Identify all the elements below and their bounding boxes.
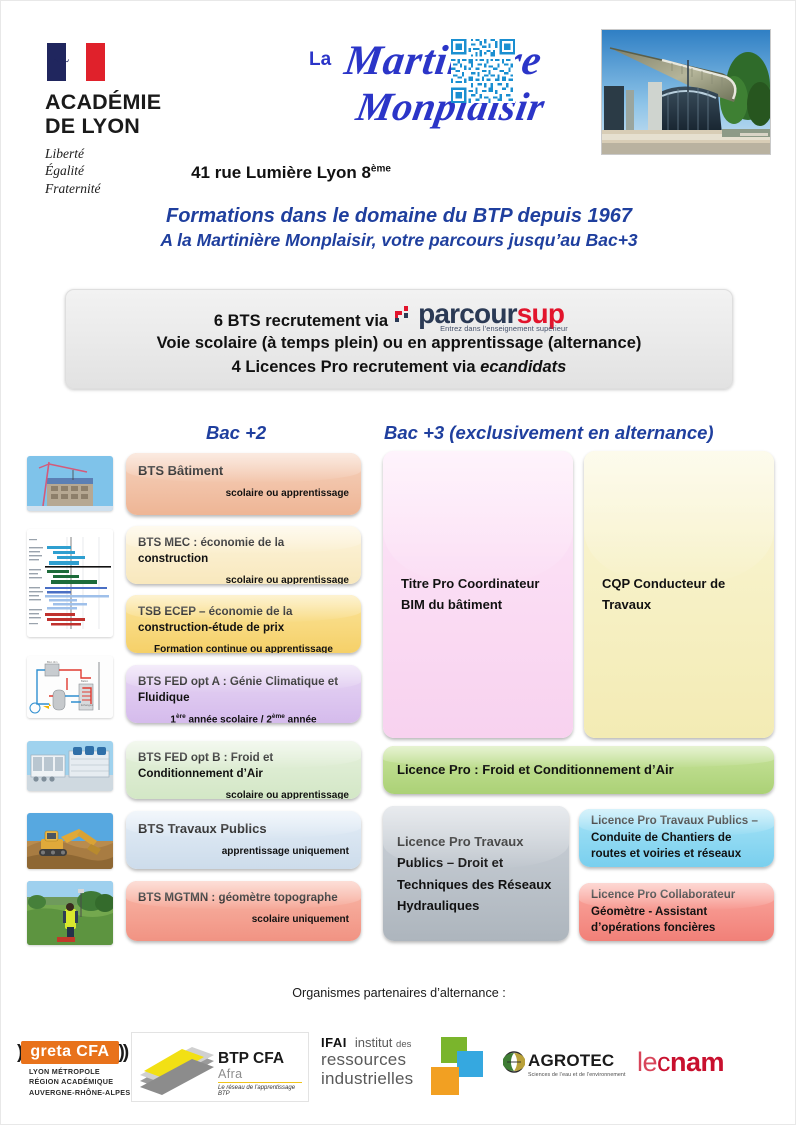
greta-cfa-logo: ) greta CFA )) LYON MÉTROPOLE RÉGION ACA… [17,1041,130,1098]
cnam-le: le [637,1047,657,1077]
ifai-squares-icon [431,1037,487,1100]
greta-subtitle: LYON MÉTROPOLE RÉGION ACADÉMIQUE AUVERGN… [29,1067,130,1098]
ifai-word-des: des [396,1039,411,1050]
agrotec-tagline: Sciences de l’eau et de l’environnement [528,1072,626,1078]
recruitment-line-2: Voie scolaire (à temps plein) ou en appr… [66,334,732,353]
card-title: Licence Pro Travaux Publics – Conduite d… [591,813,762,863]
qr-code-icon[interactable] [451,39,515,103]
address-text: 41 rue Lumière Lyon 8 [191,163,371,182]
header: ~~ ACADÉMIE DE LYON Liberté Égalité Frat… [1,1,796,196]
card-title: BTS Bâtiment [138,462,349,480]
academy-name-line1: ACADÉMIE [45,90,220,114]
partner-logos-row: ) greta CFA )) LYON MÉTROPOLE RÉGION ACA… [1,1029,796,1109]
marianne-profile-icon: ~~ [53,54,83,71]
page-title: Formations dans le domaine du BTP depuis… [1,204,796,252]
academy-name: ACADÉMIE DE LYON [45,90,220,138]
page-title-line2: A la Martinière Monplaisir, votre parcou… [1,229,796,252]
excavator-photo [27,813,113,869]
address-ordinal-suffix: ème [371,163,391,174]
cnam-logo: lecnam [637,1047,724,1078]
logo-la-text: La [309,49,331,71]
card-title: Licence Pro : Froid et Conditionnement d… [397,761,674,779]
card-title: TSB ECEP – économie de la construction-é… [138,604,349,636]
french-flag-icon: ~~ [47,43,105,81]
greta-right-bracket-icon: )) [119,1042,128,1064]
btp-cfa-tagline: Le réseau de l’apprentissage BTP [218,1085,308,1097]
card-title: BTS Travaux Publics [138,820,349,838]
svg-text:Bloc clim: Bloc clim [47,660,57,664]
card-bts-mec[interactable]: BTS MEC : économie de la construction sc… [126,526,361,584]
partners-label: Organismes partenaires d’alternance : [1,986,796,1000]
btp-cfa-region: Afra [218,1067,243,1081]
academy-name-line2: DE LYON [45,114,220,138]
recruitment-licence-text: 4 Licences Pro recrutement via [232,358,481,376]
card-title: BTS MGTMN : géomètre topographe [138,890,349,906]
greta-sub-line3: AUVERGNE-RHÔNE-ALPES [29,1088,130,1098]
card-bts-batiment[interactable]: BTS Bâtiment scolaire ou apprentissage [126,453,361,515]
parcoursup-tagline: Entrez dans l’enseignement supérieur [440,324,568,333]
card-bts-fed-opt-a[interactable]: BTS FED opt A : Génie Climatique et Flui… [126,665,361,723]
recruitment-panel: 6 BTS recrutement via parcoursup Entrez … [65,289,733,389]
ecandidats-text: ecandidats [480,358,566,376]
parcoursup-mark-icon [394,305,416,327]
svg-text:Echangeur: Echangeur [81,703,94,707]
recruitment-line-3: 4 Licences Pro recrutement via ecandidat… [66,358,732,377]
ifai-acronym: IFAI [321,1035,347,1050]
parcoursup-logo[interactable]: parcoursup Entrez dans l’enseignement su… [394,302,584,336]
address-line: 41 rue Lumière Lyon 8ème [1,163,581,183]
svg-text:Ballon: Ballon [81,679,89,683]
card-subtitle: 1ère année scolaire / 2ème année apprent… [138,713,349,723]
card-tsb-ecep[interactable]: TSB ECEP – économie de la construction-é… [126,595,361,653]
card-subtitle: apprentissage uniquement [138,845,349,858]
greta-sub-line1: LYON MÉTROPOLE [29,1067,130,1077]
campus-building-photo [601,29,771,155]
agrotec-globe-icon [503,1051,525,1078]
chiller-units-photo [27,741,113,791]
column-header-bac2: Bac +2 [206,422,266,444]
card-title: BTS MEC : économie de la construction [138,535,349,567]
poster-page: ~~ ACADÉMIE DE LYON Liberté Égalité Frat… [0,0,796,1125]
card-licence-pro-tp-droit[interactable]: Licence Pro Travaux Publics – Droit et T… [383,806,569,941]
card-title: BTS FED opt B : Froid et Conditionnement… [138,750,349,782]
card-subtitle: scolaire ou apprentissage [138,574,349,584]
ifai-logo: IFAI institut des ressources industriell… [321,1035,413,1088]
card-subtitle: scolaire ou apprentissage [138,487,349,500]
ifai-word-industrielles: industrielles [321,1069,413,1088]
card-licence-pro-geometre[interactable]: Licence Pro Collaborateur Géomètre - Ass… [579,883,774,941]
btp-cfa-sheets-icon [134,1037,220,1099]
cnam-c: c [657,1047,670,1077]
agrotec-name: AGROTEC [528,1051,614,1070]
motto-liberte: Liberté [45,145,220,162]
greta-pill-text: greta CFA [21,1041,118,1064]
card-subtitle: scolaire ou apprentissage [138,789,349,799]
btp-cfa-logo: BTP CFA Afra Le réseau de l’apprentissag… [131,1032,309,1102]
card-cqp-conducteur-travaux[interactable]: CQP Conducteur de Travaux [584,451,774,738]
card-title: BTS FED opt A : Génie Climatique et Flui… [138,674,349,706]
hvac-diagram-photo: Bloc climBallonEchangeur [27,656,113,718]
sub-sup-2: ème [272,713,285,720]
construction-crane-photo [27,456,113,511]
recruitment-bts-text: 6 BTS recrutement via [214,312,388,331]
sub-sup-1: ère [176,713,186,720]
greta-sub-line2: RÉGION ACADÉMIQUE [29,1077,130,1087]
card-titre-pro-bim[interactable]: Titre Pro Coordinateur BIM du bâtiment [383,451,573,738]
card-title: Licence Pro Collaborateur Géomètre - Ass… [591,887,762,937]
sub-part-2: année scolaire / 2 [186,714,272,723]
surveyor-field-photo [27,881,113,945]
recruitment-line-1: 6 BTS recrutement via parcoursup Entrez … [66,304,732,338]
ifai-word-ressources: ressources [321,1050,413,1069]
card-bts-mgtmn[interactable]: BTS MGTMN : géomètre topographe scolaire… [126,881,361,941]
agrotec-logo: AGROTEC Sciences de l’eau et de l’enviro… [503,1051,626,1078]
column-header-bac3: Bac +3 (exclusivement en alternance) [384,422,714,444]
card-subtitle: scolaire uniquement [138,913,349,926]
page-title-line1: Formations dans le domaine du BTP depuis… [1,204,796,229]
ifai-institut-line: institut des [355,1035,412,1050]
card-subtitle: Formation continue ou apprentissage [138,643,349,653]
card-title: Licence Pro Travaux Publics – Droit et T… [397,831,555,915]
card-title: CQP Conducteur de Travaux [602,574,756,614]
gantt-chart-photo [27,529,113,637]
btp-cfa-name: BTP CFA [218,1050,284,1068]
card-title: Titre Pro Coordinateur BIM du bâtiment [401,574,555,614]
btp-cfa-rule [218,1082,302,1083]
card-licence-pro-tp-conduite[interactable]: Licence Pro Travaux Publics – Conduite d… [579,809,774,867]
card-bts-fed-opt-b[interactable]: BTS FED opt B : Froid et Conditionnement… [126,741,361,799]
card-licence-pro-froid[interactable]: Licence Pro : Froid et Conditionnement d… [383,746,774,794]
cnam-nam: nam [670,1047,724,1077]
card-bts-travaux-publics[interactable]: BTS Travaux Publics apprentissage unique… [126,811,361,869]
ifai-word-institut: institut [355,1035,393,1050]
